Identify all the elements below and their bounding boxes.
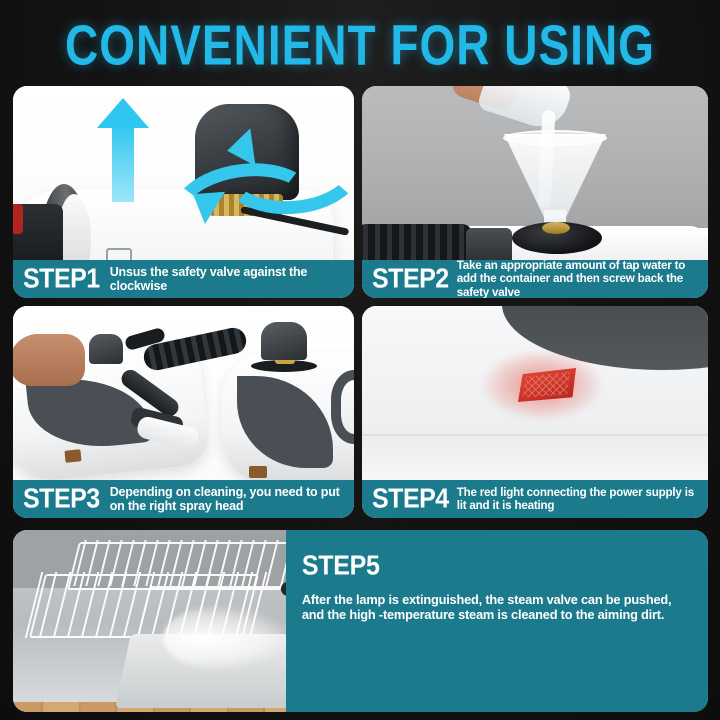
steam-jet	[163, 604, 286, 672]
step-panel-1: STEP1 Unsus the safety valve against the…	[13, 86, 354, 298]
step-3-label-bar: STEP3 Depending on cleaning, you need to…	[13, 480, 354, 518]
step-5-layout: STEP5 After the lamp is extinguished, th…	[13, 530, 708, 712]
left-unit-cap	[89, 334, 123, 364]
step-panel-4: STEP4 The red light connecting the power…	[362, 306, 708, 518]
right-unit-cap	[261, 322, 307, 360]
step-4-number: STEP4	[372, 483, 449, 515]
step-5-image	[13, 530, 286, 712]
step-5-label-block: STEP5 After the lamp is extinguished, th…	[286, 530, 708, 712]
page-title: CONVENIENT FOR USING	[0, 10, 720, 81]
step-2-description: Take an appropriate amount of tap water …	[457, 259, 702, 298]
step-panel-2: STEP2 Take an appropriate amount of tap …	[362, 86, 708, 298]
step-panel-3: STEP3 Depending on cleaning, you need to…	[13, 306, 354, 518]
left-unit-tag	[64, 449, 81, 463]
shell-seam	[362, 434, 708, 436]
rotation-arrow-upper-head-icon	[224, 128, 255, 169]
step-1-description: Unsus the safety valve against the clock…	[110, 265, 348, 294]
step-3-number: STEP3	[23, 483, 100, 515]
step-4-description: The red light connecting the power suppl…	[457, 486, 702, 512]
step-5-number: STEP5	[302, 551, 696, 583]
step-5-description: After the lamp is extinguished, the stea…	[302, 593, 696, 623]
hand	[13, 334, 85, 386]
infographic-page: CONVENIENT FOR USING STEP1 Unsus the saf…	[0, 0, 720, 720]
step-panel-5: STEP5 After the lamp is extinguished, th…	[13, 530, 708, 712]
right-unit-tag	[249, 466, 267, 478]
brass-ring	[542, 222, 570, 234]
step-1-number: STEP1	[23, 263, 100, 295]
step-2-label-bar: STEP2 Take an appropriate amount of tap …	[362, 260, 708, 298]
step-2-number: STEP2	[372, 263, 449, 295]
step-3-description: Depending on cleaning, you need to put o…	[110, 485, 348, 514]
red-clip	[13, 204, 23, 234]
step-1-label-bar: STEP1 Unsus the safety valve against the…	[13, 260, 354, 298]
step-4-label-bar: STEP4 The red light connecting the power…	[362, 480, 708, 518]
